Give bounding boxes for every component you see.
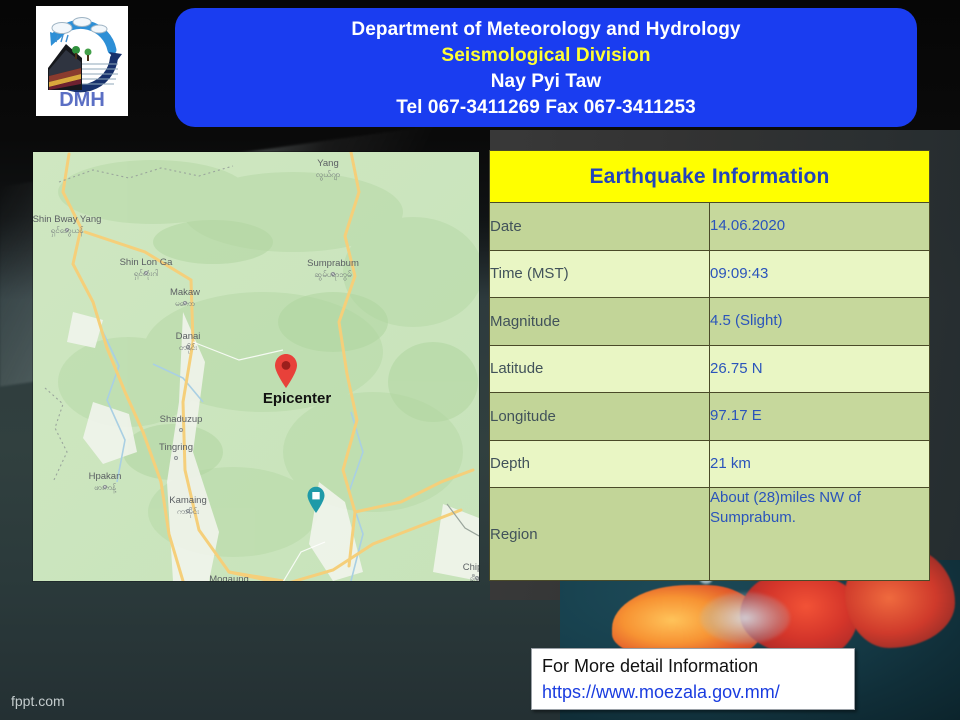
table-row-value: 26.75 N <box>710 345 930 393</box>
table-row: Depth21 km <box>490 440 930 488</box>
map-place-label: Shin Bway Yangရှင်ဘွေယန် <box>33 214 101 236</box>
map-place-name-my: ချီဗွေ <box>463 573 479 581</box>
map-place-label: Shaduzup <box>160 414 203 425</box>
city-pin-icon[interactable] <box>306 486 326 514</box>
map-place-name-my: မကော <box>170 298 200 309</box>
map-place-label: Shin Lon Gaရှင်လုံးဂါ <box>120 257 173 279</box>
dmh-logo: DMH <box>36 6 128 116</box>
map-place-name: Chipwi <box>463 562 479 573</box>
map-place-name-my: ကာမိုင်း <box>169 506 207 517</box>
table-row-label: Date <box>490 203 710 251</box>
table-row-value: 4.5 (Slight) <box>710 298 930 346</box>
map-place-name: Mogaung <box>209 574 249 581</box>
header-line-4: Tel 067-3411269 Fax 067-3411253 <box>396 95 696 121</box>
epicenter-map[interactable]: Yangလွယ်ဂျာShin Bway Yangရှင်ဘွေယန်Shin … <box>33 152 479 581</box>
table-row-value: 97.17 E <box>710 393 930 441</box>
map-place-label: Sumprabumဆွမ်ပရာဘွမ် <box>307 258 359 280</box>
map-place-dot <box>179 428 183 432</box>
map-place-label: Kamaingကာမိုင်း <box>169 495 207 517</box>
dmh-logo-icon: DMH <box>36 6 128 116</box>
table-row: Latitude26.75 N <box>490 345 930 393</box>
map-place-name-my: တနိုင်း <box>176 342 201 353</box>
globe-cloud-foam <box>700 592 790 644</box>
map-place-name-my: ရှင်လုံးဂါ <box>120 268 173 279</box>
table-row-label: Latitude <box>490 345 710 393</box>
map-place-name: Tingring <box>159 442 193 453</box>
more-info-link[interactable]: https://www.moezala.gov.mm/ <box>542 679 846 705</box>
map-place-label: Chipwiချီဗွေ <box>463 562 479 581</box>
map-place-name: Shaduzup <box>160 414 203 425</box>
map-place-name-my: ဆွမ်ပရာဘွမ် <box>307 269 359 280</box>
table-row-label: Region <box>490 488 710 581</box>
table-row: Longitude97.17 E <box>490 393 930 441</box>
table-row-label: Time (MST) <box>490 250 710 298</box>
table-row-label: Magnitude <box>490 298 710 346</box>
map-place-name: Hpakan <box>89 471 122 482</box>
table-row-value: 14.06.2020 <box>710 203 930 251</box>
epicenter-label: Epicenter <box>263 390 331 407</box>
map-place-label: Danaiတနိုင်း <box>176 331 201 353</box>
map-place-name: Sumprabum <box>307 258 359 269</box>
table-row-value: 09:09:43 <box>710 250 930 298</box>
table-row: RegionAbout (28)miles NW of Sumprabum. <box>490 488 930 581</box>
map-place-name: Danai <box>176 331 201 342</box>
table-row-label: Longitude <box>490 393 710 441</box>
table-row: Date14.06.2020 <box>490 203 930 251</box>
map-place-name: Shin Bway Yang <box>33 214 101 225</box>
map-place-name: Kamaing <box>169 495 207 506</box>
slide-root: DMH Department of Meteorology and Hydrol… <box>0 0 960 720</box>
map-place-label: Hpakanဖားကန့် <box>89 471 122 493</box>
map-place-name-my: ရှင်ဘွေယန် <box>33 225 101 236</box>
header-line-1: Department of Meteorology and Hydrology <box>351 17 740 43</box>
header-banner: Department of Meteorology and Hydrology … <box>175 8 917 127</box>
table-row-label: Depth <box>490 440 710 488</box>
map-place-name: Makaw <box>170 287 200 298</box>
map-place-name-my: လွယ်ဂျာ <box>316 169 340 180</box>
map-place-name: Yang <box>317 158 338 169</box>
map-place-name: Shin Lon Ga <box>120 257 173 268</box>
table-title-row: Earthquake Information <box>490 151 930 203</box>
map-place-label: Makawမကော <box>170 287 200 309</box>
map-place-name-my: ဖားကန့် <box>89 482 122 493</box>
table-row-value: 21 km <box>710 440 930 488</box>
table-row-value: About (28)miles NW of Sumprabum. <box>710 488 930 581</box>
map-place-label: Yangလွယ်ဂျာ <box>316 158 340 180</box>
earthquake-info-table: Earthquake Information Date14.06.2020Tim… <box>489 150 930 581</box>
dmh-logo-text: DMH <box>59 89 105 111</box>
table-row: Magnitude4.5 (Slight) <box>490 298 930 346</box>
header-line-3: Nay Pyi Taw <box>491 69 602 95</box>
map-place-dot <box>174 456 178 460</box>
map-place-label: Tingring <box>159 442 193 453</box>
map-place-label: Mogaungမိုးကောင်း <box>209 574 249 581</box>
header-line-2: Seismological Division <box>441 43 650 69</box>
fppt-watermark: fppt.com <box>11 693 65 709</box>
epicenter-pin-icon[interactable] <box>273 353 299 389</box>
table-title: Earthquake Information <box>490 151 930 203</box>
more-info-box[interactable]: For More detail Information https://www.… <box>531 648 855 710</box>
table-row: Time (MST)09:09:43 <box>490 250 930 298</box>
more-info-label: For More detail Information <box>542 653 846 679</box>
